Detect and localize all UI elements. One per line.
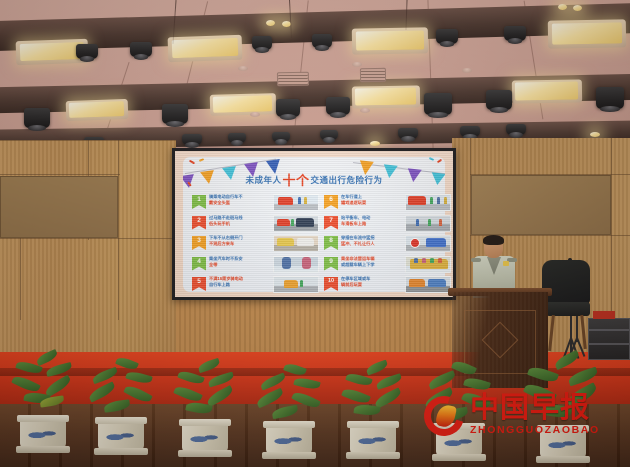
item-text: 下车不从右侧开门 不观后方来车 (209, 235, 267, 247)
item-text: 乘坐汽车时不系安 全带 (209, 256, 267, 268)
potted-plant (172, 361, 242, 453)
ceiling-light (172, 38, 239, 58)
stage-light (272, 132, 290, 142)
confetti (437, 159, 442, 164)
acoustic-panel (471, 175, 611, 235)
item-number-banner: 10 (324, 277, 338, 291)
flame-ring-logo-icon (424, 394, 468, 438)
watermark-chinese-name: 中国早报 (470, 394, 600, 423)
porcelain-pot (20, 419, 66, 449)
item-text: 乘坐非法营运车辆 或超载车辆上下学 (341, 256, 399, 268)
stage-light (326, 97, 350, 115)
ceiling-light (573, 5, 582, 11)
watermark-pinyin: ZHONGGUOZAOBAO (470, 424, 600, 438)
item-illustration (405, 235, 451, 252)
ceiling-light (20, 42, 85, 61)
ceiling-light (355, 87, 416, 105)
item-illustration (273, 235, 319, 252)
stage-light (596, 87, 624, 109)
item-number-banner: 5 (192, 277, 206, 291)
confetti (189, 160, 195, 165)
potted-plant (88, 357, 158, 451)
stage-light (24, 108, 50, 128)
ceiling-light (356, 30, 424, 50)
stage-light (320, 130, 338, 140)
slide-title-suffix: 交通出行危险行为 (311, 175, 383, 185)
list-item: 6 在车行道上 嬉戏追逐玩耍 (322, 193, 452, 212)
list-item: 8 穿插在车流中猛拐 猛冲、不礼让行人 (322, 234, 452, 253)
porcelain-pot (266, 425, 312, 455)
list-item: 1 骑乘电动自行车不 戴安全头盔 (190, 193, 320, 212)
ceiling-light (552, 22, 622, 44)
item-illustration (405, 194, 451, 211)
wall-left-wood (0, 140, 176, 370)
potted-plant (256, 363, 326, 455)
stage-light (504, 26, 526, 41)
item-text: 在车行道上 嬉戏追逐玩耍 (341, 194, 399, 206)
stage-light (252, 36, 272, 50)
item-number-banner: 6 (324, 195, 338, 209)
confetti (429, 157, 434, 161)
stage-light (76, 44, 98, 59)
stage-light (460, 126, 480, 137)
item-number-banner: 4 (192, 257, 206, 271)
ceiling-light (266, 20, 275, 26)
list-item: 4 乘坐汽车时不系安 全带 (190, 255, 320, 274)
air-vent (277, 72, 309, 87)
item-text: 不满16周岁骑电动 自行车上路 (209, 276, 267, 288)
uniform-badge (503, 261, 509, 266)
stage-light (228, 133, 246, 143)
list-item: 9 乘坐非法营运车辆 或超载车辆上下学 (322, 255, 452, 274)
item-text: 过马路不走斑马线 低头玩手机 (209, 215, 267, 227)
list-item: 5 不满16周岁骑电动 自行车上路 (190, 275, 320, 294)
stage-light (130, 42, 152, 57)
ceiling-light (558, 4, 567, 10)
list-item: 3 下车不从右侧开门 不观后方来车 (190, 234, 320, 253)
led-screen: 未成年人十个交通出行危险行为 1 骑乘电动自行车不 戴安全头盔 (172, 148, 456, 300)
ceiling-light (515, 81, 578, 100)
slide-column-left: 1 骑乘电动自行车不 戴安全头盔 2 (190, 193, 320, 296)
porcelain-pot (98, 421, 144, 451)
item-illustration (405, 276, 451, 293)
item-text: 穿插在车流中猛拐 猛冲、不礼让行人 (341, 235, 399, 247)
ceiling-light (213, 95, 272, 113)
air-vent (360, 68, 386, 82)
stage-light (436, 29, 458, 44)
potted-plant (10, 353, 80, 449)
list-item: 10 在停车区域或车 辆前后玩耍 (322, 275, 452, 294)
item-illustration (273, 256, 319, 273)
stage-light (162, 104, 188, 124)
list-item: 2 过马路不走斑马线 低头玩手机 (190, 214, 320, 233)
photo-scene: 未成年人十个交通出行危险行为 1 骑乘电动自行车不 戴安全头盔 (0, 0, 630, 467)
slide-title-prefix: 未成年人 (245, 175, 281, 185)
slide-content: 未成年人十个交通出行危险行为 1 骑乘电动自行车不 戴安全头盔 (183, 157, 445, 292)
stage-light (182, 134, 202, 145)
stage-light (486, 90, 512, 110)
item-number-banner: 7 (324, 216, 338, 230)
ceiling-light (370, 141, 380, 146)
list-item: 7 站平衡车、电动 车滑板车上路 (322, 214, 452, 233)
item-number-banner: 1 (192, 195, 206, 209)
ceiling-light (69, 101, 124, 118)
item-number-banner: 3 (192, 236, 206, 250)
item-illustration (405, 256, 451, 273)
slide-title-highlight: 十个 (282, 173, 309, 188)
acoustic-panel (0, 176, 118, 238)
stage-light (506, 124, 526, 135)
item-text: 在停车区域或车 辆前后玩耍 (341, 276, 399, 288)
slide-column-right: 6 在车行道上 嬉戏追逐玩耍 (322, 193, 452, 296)
porcelain-pot (350, 425, 396, 455)
stage-light (424, 93, 452, 115)
item-text: 骑乘电动自行车不 戴安全头盔 (209, 194, 267, 206)
stage-light (398, 128, 418, 139)
equipment-case (588, 318, 630, 360)
item-illustration (273, 215, 319, 232)
item-illustration (405, 215, 451, 232)
item-text: 站平衡车、电动 车滑板车上路 (341, 215, 399, 227)
watermark: 中国早报 ZHONGGUOZAOBAO (424, 392, 628, 440)
potted-plant (340, 363, 410, 455)
ceiling (0, 0, 630, 148)
stage-light (276, 99, 300, 117)
item-illustration (273, 194, 319, 211)
porcelain-pot (182, 423, 228, 453)
item-number-banner: 8 (324, 236, 338, 250)
stage-light (312, 34, 332, 48)
ceiling-light (590, 132, 600, 137)
item-illustration (273, 276, 319, 293)
slide-title: 未成年人十个交通出行危险行为 (183, 170, 445, 189)
chair (542, 260, 592, 352)
item-number-banner: 2 (192, 216, 206, 230)
no-entry-sign-icon (410, 238, 420, 248)
item-number-banner: 9 (324, 257, 338, 271)
confetti (199, 158, 204, 162)
